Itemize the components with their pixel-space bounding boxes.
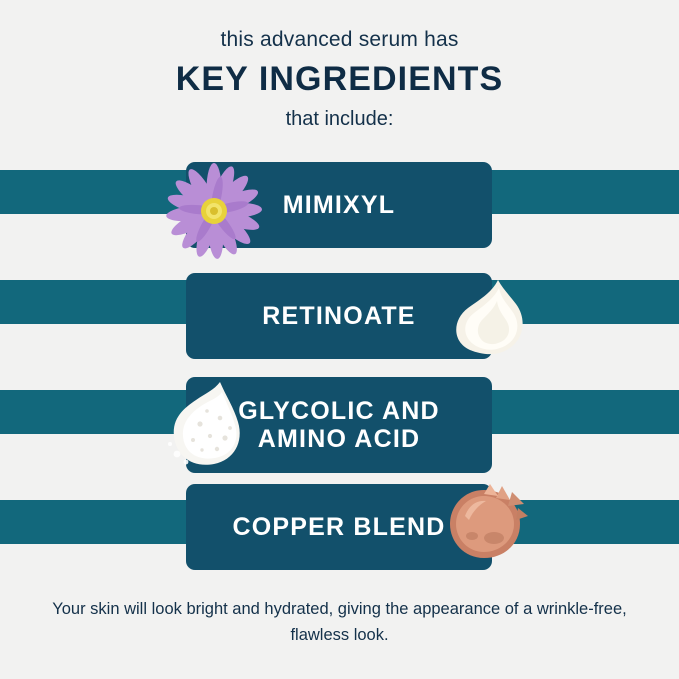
- ingredient-card-mimixyl[interactable]: MIMIXYL: [186, 162, 492, 248]
- ingredient-list: MIMIXYL RETINOATE GLYCOLIC AND AMINO ACI…: [0, 0, 679, 679]
- ingredient-card-glycolic-amino-acid[interactable]: GLYCOLIC AND AMINO ACID: [186, 377, 492, 473]
- ingredient-label: RETINOATE: [248, 302, 429, 330]
- ingredient-label: GLYCOLIC AND AMINO ACID: [224, 397, 453, 453]
- ingredients-infographic: this advanced serum has KEY INGREDIENTS …: [0, 0, 679, 679]
- ingredient-label: MIMIXYL: [269, 191, 410, 219]
- ingredient-card-retinoate[interactable]: RETINOATE: [186, 273, 492, 359]
- ingredient-card-copper-blend[interactable]: COPPER BLEND: [186, 484, 492, 570]
- footer-text: Your skin will look bright and hydrated,…: [50, 596, 629, 649]
- ingredient-label: COPPER BLEND: [218, 513, 459, 541]
